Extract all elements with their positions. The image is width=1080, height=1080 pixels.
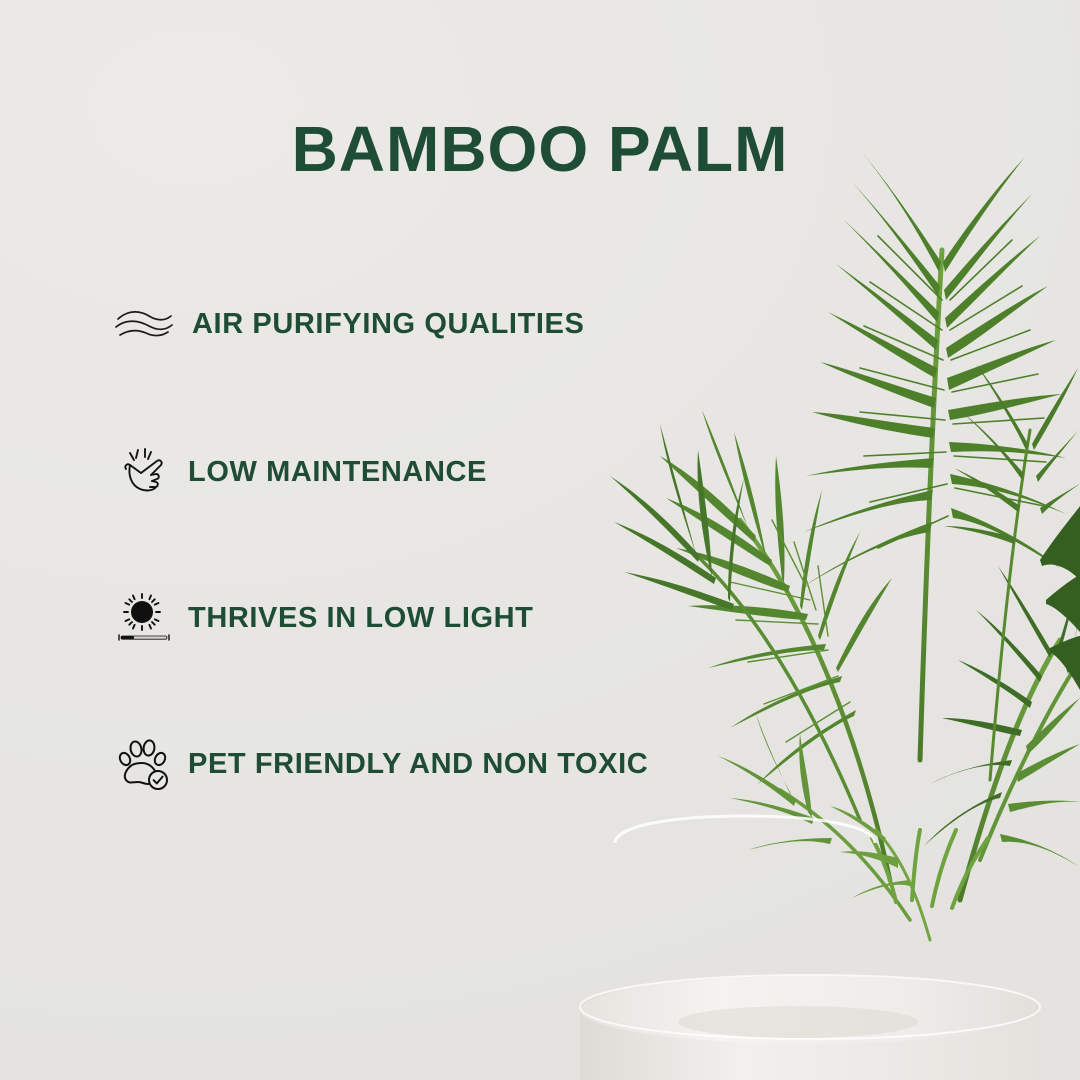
air-waves-icon bbox=[112, 292, 176, 356]
snapping-hand-icon bbox=[112, 440, 176, 504]
feature-label-air-purifying: AIR PURIFYING QUALITIES bbox=[192, 308, 584, 341]
page-title: BAMBOO PALM bbox=[0, 112, 1080, 186]
feature-label-pet-friendly: PET FRIENDLY AND NON TOXIC bbox=[188, 748, 648, 781]
paw-check-icon bbox=[112, 732, 176, 796]
feature-item-low-light: THRIVES IN LOW LIGHT bbox=[112, 582, 534, 654]
sun-brightness-icon bbox=[112, 586, 176, 650]
feature-item-low-maintenance: LOW MAINTENANCE bbox=[112, 436, 487, 508]
feature-label-low-maintenance: LOW MAINTENANCE bbox=[188, 456, 487, 489]
plant-pot bbox=[615, 816, 1080, 1050]
feature-label-low-light: THRIVES IN LOW LIGHT bbox=[188, 602, 534, 635]
feature-item-pet-friendly: PET FRIENDLY AND NON TOXIC bbox=[112, 728, 648, 800]
poster-canvas: BAMBOO PALM AIR PURIFYING QUALITIES bbox=[0, 0, 1080, 1080]
feature-item-air-purifying: AIR PURIFYING QUALITIES bbox=[112, 288, 584, 360]
